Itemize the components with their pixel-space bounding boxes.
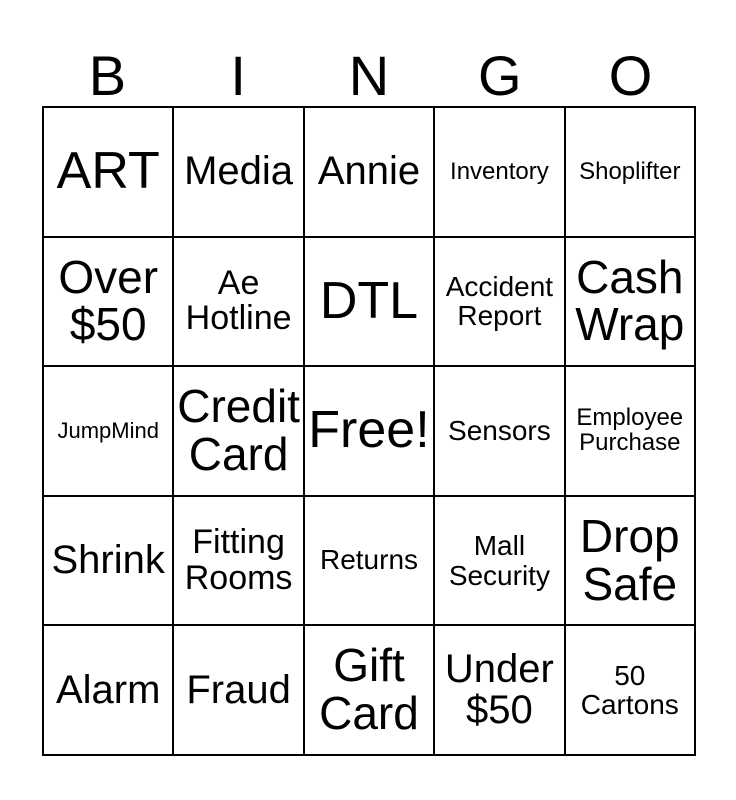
bingo-header: B I N G O	[42, 26, 696, 104]
bingo-cell[interactable]: Employee Purchase	[566, 367, 696, 497]
bingo-cell-label: Over $50	[58, 254, 158, 350]
bingo-cell[interactable]: Mall Security	[435, 497, 565, 627]
bingo-cell-label: Shoplifter	[579, 160, 680, 184]
header-letter-i: I	[173, 26, 304, 104]
bingo-cell[interactable]: Inventory	[435, 108, 565, 238]
bingo-cell-label: Returns	[320, 546, 418, 575]
bingo-cell-label: Under $50	[445, 649, 554, 732]
bingo-cell[interactable]: Under $50	[435, 626, 565, 756]
header-letter-g: G	[434, 26, 565, 104]
bingo-cell-label: Credit Card	[177, 383, 300, 479]
bingo-cell[interactable]: Cash Wrap	[566, 238, 696, 368]
bingo-cell-label: Mall Security	[449, 531, 550, 589]
bingo-cell-label: Shrink	[52, 540, 165, 581]
bingo-cell-label: JumpMind	[57, 420, 158, 442]
header-letter-o: O	[565, 26, 696, 104]
bingo-cell[interactable]: Returns	[305, 497, 435, 627]
bingo-cell-label: Cash Wrap	[575, 254, 684, 350]
bingo-cell-label: Inventory	[450, 160, 549, 184]
bingo-cell-label: DTL	[320, 275, 418, 328]
bingo-cell-label: Gift Card	[319, 642, 419, 738]
bingo-cell-label: Annie	[318, 151, 420, 192]
bingo-cell[interactable]: Gift Card	[305, 626, 435, 756]
bingo-cell-label: Drop Safe	[580, 513, 680, 609]
bingo-cell-free-space[interactable]: Free!	[305, 367, 435, 497]
bingo-cell[interactable]: Fraud	[174, 626, 304, 756]
bingo-cell[interactable]: DTL	[305, 238, 435, 368]
header-letter-n: N	[304, 26, 435, 104]
bingo-cell-label: 50 Cartons	[581, 661, 679, 719]
bingo-cell[interactable]: JumpMind	[44, 367, 174, 497]
bingo-cell-label: Sensors	[448, 417, 551, 446]
bingo-cell-label: Media	[184, 151, 293, 192]
bingo-cell-label: Employee Purchase	[576, 406, 683, 456]
bingo-cell[interactable]: ART	[44, 108, 174, 238]
bingo-cell[interactable]: Sensors	[435, 367, 565, 497]
bingo-cell-label: Fraud	[186, 670, 291, 711]
bingo-cell[interactable]: Credit Card	[174, 367, 304, 497]
bingo-cell-label: Alarm	[56, 670, 160, 711]
bingo-cell-label: Fitting Rooms	[185, 525, 293, 596]
bingo-cell[interactable]: Alarm	[44, 626, 174, 756]
bingo-cell-label: Ae Hotline	[186, 266, 292, 337]
bingo-grid: ARTMediaAnnieInventoryShoplifterOver $50…	[42, 106, 696, 756]
bingo-cell[interactable]: Shoplifter	[566, 108, 696, 238]
bingo-cell-label: ART	[57, 145, 160, 198]
bingo-cell[interactable]: Ae Hotline	[174, 238, 304, 368]
bingo-cell-label: Free!	[308, 404, 429, 457]
bingo-card: B I N G O ARTMediaAnnieInventoryShoplift…	[0, 0, 736, 800]
bingo-cell[interactable]: Shrink	[44, 497, 174, 627]
bingo-cell[interactable]: Over $50	[44, 238, 174, 368]
bingo-cell[interactable]: Drop Safe	[566, 497, 696, 627]
bingo-cell[interactable]: Media	[174, 108, 304, 238]
bingo-cell[interactable]: 50 Cartons	[566, 626, 696, 756]
bingo-cell[interactable]: Accident Report	[435, 238, 565, 368]
bingo-cell-label: Accident Report	[446, 272, 553, 330]
bingo-cell[interactable]: Fitting Rooms	[174, 497, 304, 627]
header-letter-b: B	[42, 26, 173, 104]
bingo-cell[interactable]: Annie	[305, 108, 435, 238]
